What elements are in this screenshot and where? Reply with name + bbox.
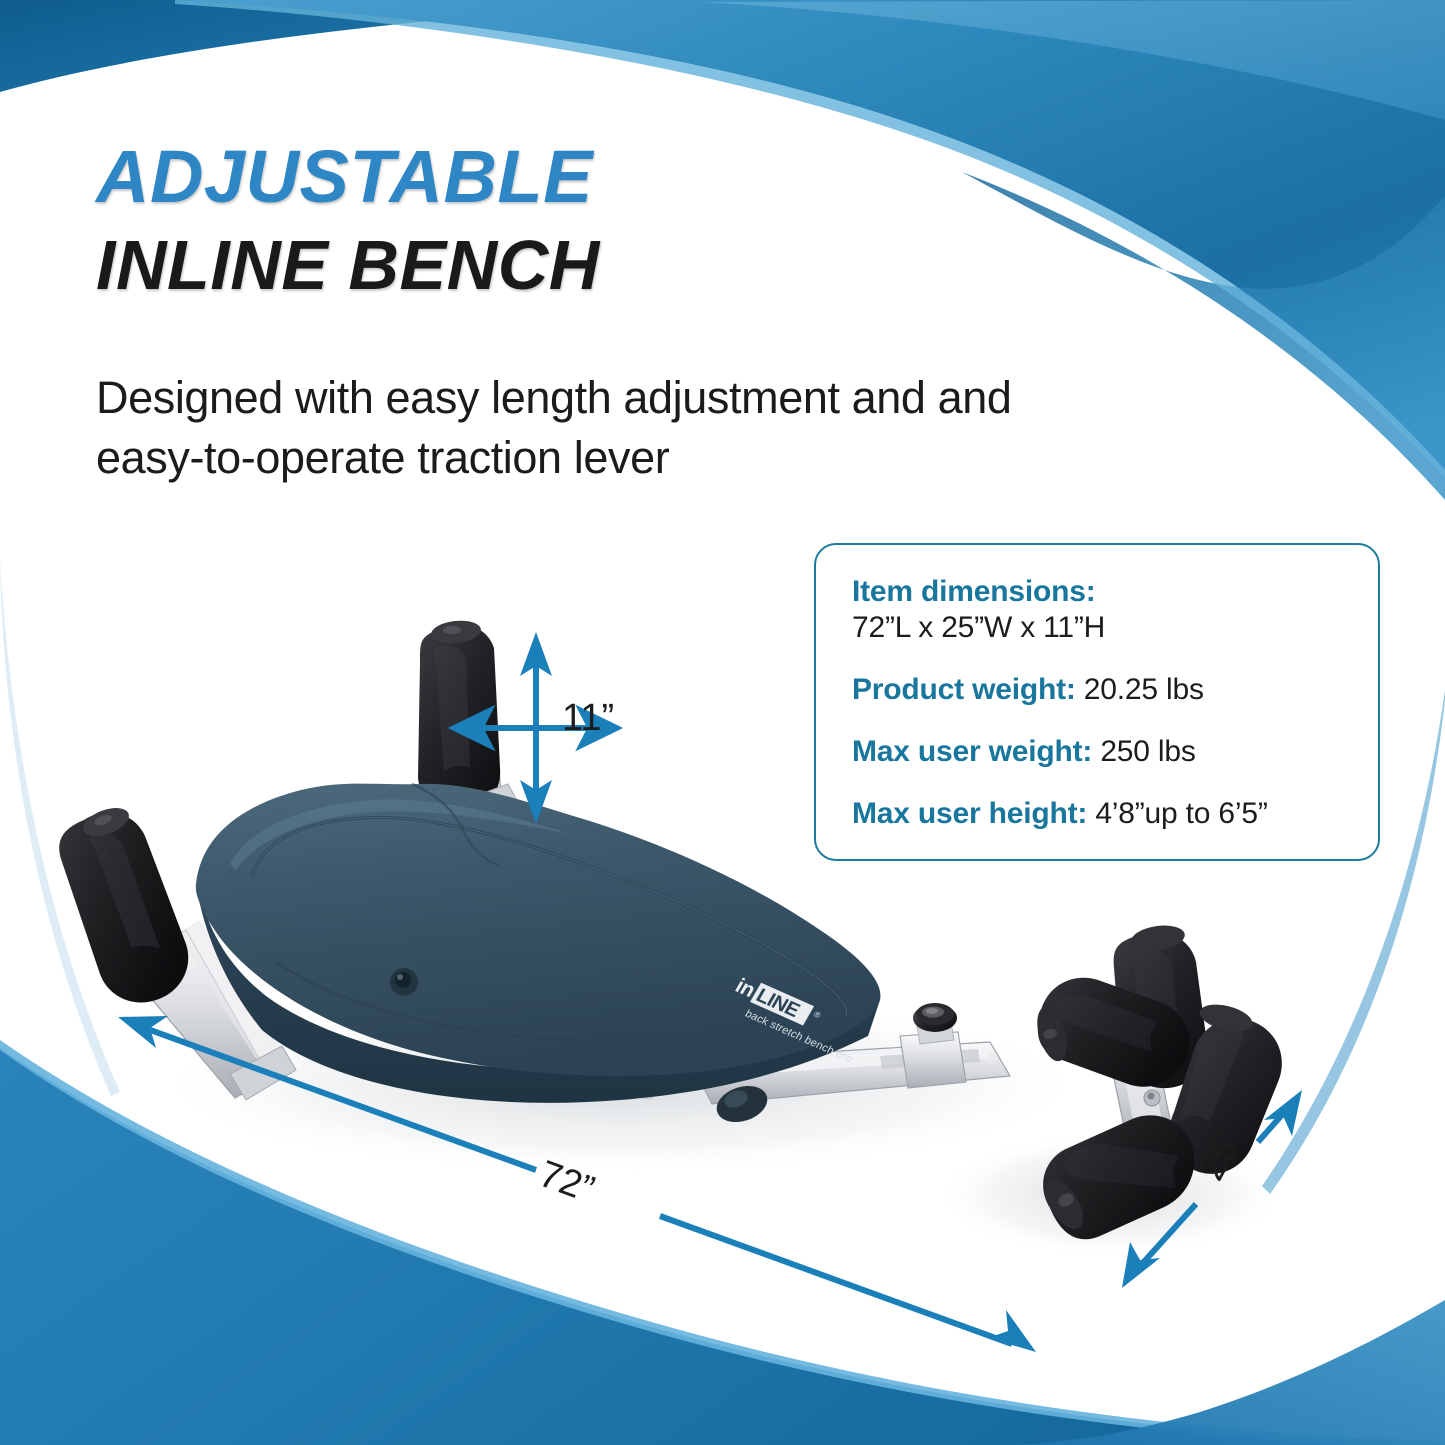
- dimension-arrows: [0, 0, 1445, 1445]
- dimension-arrow-width: [1122, 1090, 1302, 1288]
- infographic-canvas: ADJUSTABLE INLINE BENCH Designed with ea…: [0, 0, 1445, 1445]
- dimension-label-height: 11”: [562, 697, 614, 740]
